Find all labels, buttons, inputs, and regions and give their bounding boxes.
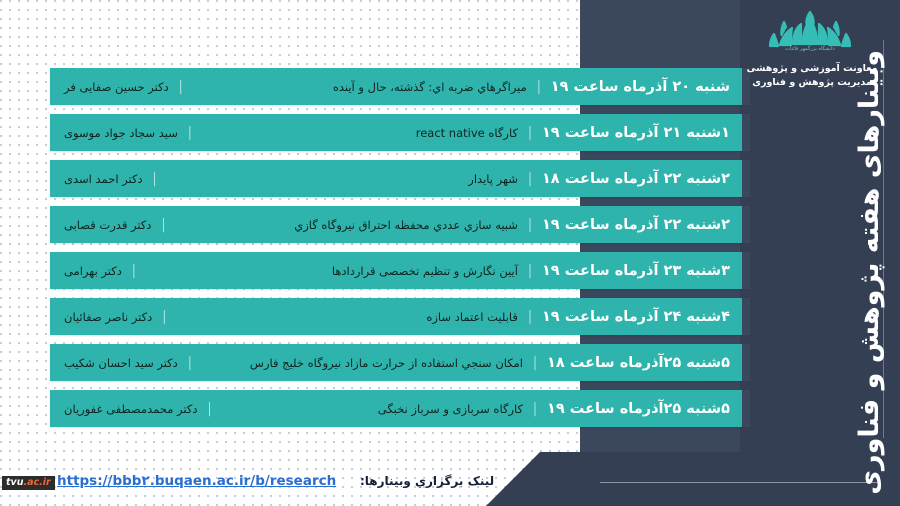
schedule-row-speaker: دکتر محمدمصطفی غفوریان bbox=[50, 402, 203, 416]
schedule-row-topic: امکان سنجي استفاده از حرارت مازاد نیروگا… bbox=[244, 356, 529, 370]
row-separator: | bbox=[529, 355, 541, 371]
row-separator: | bbox=[529, 401, 541, 417]
schedule-row-topic: کارگاه سربازی و سرباز نخبگی bbox=[372, 402, 529, 416]
poster-vertical-title: وبینارهای هفته پژوهش و فناوری bbox=[846, 96, 892, 448]
row-separator: | bbox=[184, 355, 196, 371]
schedule-row-speaker: دکتر بهرامی bbox=[50, 264, 128, 278]
row-separator: | bbox=[524, 263, 536, 279]
row-separator: | bbox=[524, 217, 536, 233]
footer-label: لینک برگزاري وبینارها: bbox=[360, 474, 494, 488]
row-separator: | bbox=[157, 217, 169, 233]
tvu-logo-badge: tvu.ac.ir bbox=[2, 476, 55, 491]
schedule-row[interactable]: ۲شنبه ۲۲ آذرماه ساعت ۱۸|شهر پایدار|دکتر … bbox=[50, 160, 742, 197]
schedule-row[interactable]: ۱شنبه ۲۱ آذرماه ساعت ۱۹|کارگاه react nat… bbox=[50, 114, 742, 151]
row-separator: | bbox=[175, 79, 187, 95]
schedule-row[interactable]: ۴شنبه ۲۴ آذرماه ساعت ۱۹|قابلیت اعتماد سا… bbox=[50, 298, 742, 335]
schedule-row[interactable]: ۵شنبه ۲۵آذرماه ساعت ۱۹|کارگاه سربازی و س… bbox=[50, 390, 742, 427]
schedule-list: شنبه ۲۰ آذرماه ساعت ۱۹|میراگرهاي ضربه اي… bbox=[50, 68, 742, 436]
row-separator: | bbox=[184, 125, 196, 141]
schedule-row-topic: قابلیت اعتماد سازه bbox=[420, 310, 524, 324]
schedule-row-speaker: دکتر قدرت قصابی bbox=[50, 218, 157, 232]
schedule-row[interactable]: ۲شنبه ۲۲ آذرماه ساعت ۱۹|شبیه سازي عددي م… bbox=[50, 206, 742, 243]
schedule-row-date: ۲شنبه ۲۲ آذرماه ساعت ۱۹ bbox=[536, 217, 742, 233]
schedule-row-date: ۵شنبه ۲۵آذرماه ساعت ۱۸ bbox=[541, 355, 742, 371]
row-separator: | bbox=[149, 171, 161, 187]
schedule-row-date: ۳شنبه ۲۳ آذرماه ساعت ۱۹ bbox=[536, 263, 742, 279]
row-separator: | bbox=[533, 79, 545, 95]
schedule-row-topic: کارگاه react native bbox=[410, 126, 524, 140]
row-separator: | bbox=[128, 263, 140, 279]
schedule-row-topic: شبیه سازي عددي محفظه احتراق نیروگاه گازي bbox=[288, 218, 524, 232]
schedule-row-speaker: دکتر ناصر صفائیان bbox=[50, 310, 158, 324]
schedule-row[interactable]: ۳شنبه ۲۳ آذرماه ساعت ۱۹|آیین نگارش و تنظ… bbox=[50, 252, 742, 289]
row-separator: | bbox=[158, 309, 170, 325]
schedule-row[interactable]: شنبه ۲۰ آذرماه ساعت ۱۹|میراگرهاي ضربه اي… bbox=[50, 68, 742, 105]
poster-canvas: دانشگاه بزرگمهر قائنات معاونت آموزشی و پ… bbox=[0, 0, 900, 506]
webinar-link[interactable]: https://bbb۲.buqaen.ac.ir/b/research bbox=[57, 473, 336, 489]
logo-caption: دانشگاه بزرگمهر قائنات bbox=[762, 46, 858, 52]
schedule-row[interactable]: ۵شنبه ۲۵آذرماه ساعت ۱۸|امکان سنجي استفاد… bbox=[50, 344, 742, 381]
schedule-row-speaker: دکتر احمد اسدی bbox=[50, 172, 149, 186]
schedule-row-date: شنبه ۲۰ آذرماه ساعت ۱۹ bbox=[545, 79, 742, 95]
schedule-row-speaker: دکتر سید احسان شکیب bbox=[50, 356, 184, 370]
poster-vertical-title-text: وبینارهای هفته پژوهش و فناوری bbox=[854, 50, 885, 495]
tvu-badge-name: tvu bbox=[6, 477, 24, 488]
tvu-badge-domain: .ac.ir bbox=[24, 477, 51, 488]
row-separator: | bbox=[524, 171, 536, 187]
schedule-row-date: ۱شنبه ۲۱ آذرماه ساعت ۱۹ bbox=[536, 125, 742, 141]
schedule-row-date: ۴شنبه ۲۴ آذرماه ساعت ۱۹ bbox=[536, 309, 742, 325]
schedule-row-topic: میراگرهاي ضربه اي: گذشته، حال و آینده bbox=[327, 80, 533, 94]
schedule-row-date: ۵شنبه ۲۵آذرماه ساعت ۱۹ bbox=[541, 401, 742, 417]
row-separator: | bbox=[203, 401, 215, 417]
schedule-row-topic: آیین نگارش و تنظیم تخصصی قراردادها bbox=[326, 264, 524, 278]
row-separator: | bbox=[524, 125, 536, 141]
schedule-row-date: ۲شنبه ۲۲ آذرماه ساعت ۱۸ bbox=[536, 171, 742, 187]
row-separator: | bbox=[524, 309, 536, 325]
schedule-row-topic: شهر پایدار bbox=[462, 172, 524, 186]
schedule-row-speaker: سید سجاد جواد موسوی bbox=[50, 126, 184, 140]
schedule-row-speaker: دکتر حسین صفایی فر bbox=[50, 80, 175, 94]
